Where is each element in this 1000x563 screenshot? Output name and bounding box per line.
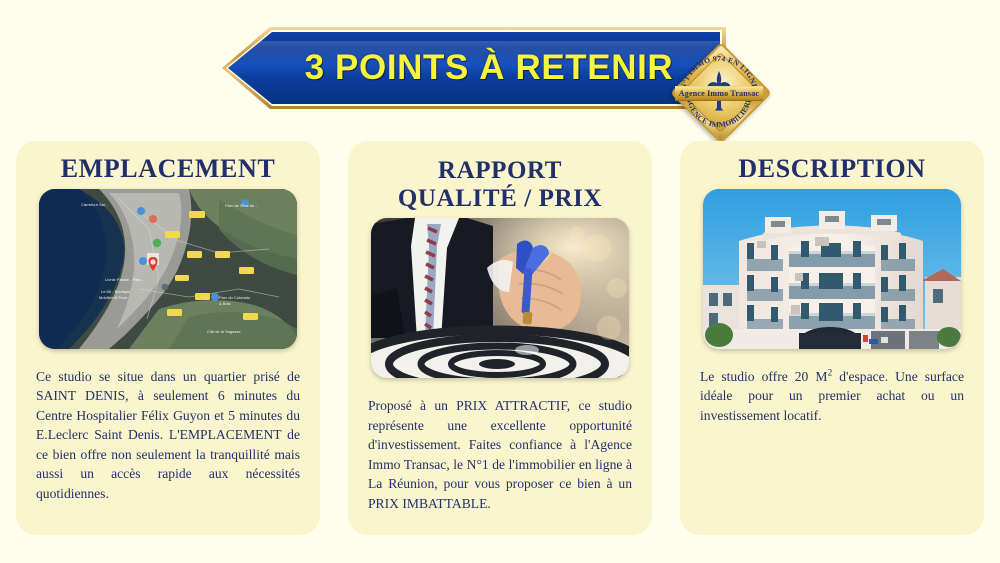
card-title-description: DESCRIPTION xyxy=(696,155,968,183)
cards-row: EMPLACEMENT xyxy=(0,141,1000,537)
agency-logo-badge: N°1 IMMO 974 EN LIGNE AGENCE IMMOBILIERE… xyxy=(671,43,767,139)
logo-center-ribbon: Agence Immo Transac xyxy=(675,86,763,101)
svg-text:Parc de l'État de…: Parc de l'État de… xyxy=(225,203,258,208)
building-image-description xyxy=(703,189,961,349)
card-title-emplacement: EMPLACEMENT xyxy=(32,155,304,183)
card-title-rapport: RAPPORT QUALITÉ / PRIX xyxy=(364,157,636,212)
banner-title: 3 POINTS À RETENIR xyxy=(228,32,720,104)
logo-bottom-arc-label: AGENCE IMMOBILIERE xyxy=(685,97,753,130)
map-image-emplacement: Carrefour Sai… Lionie Palace - Fleu… Le … xyxy=(39,189,297,349)
card-title-rapport-line1: RAPPORT xyxy=(438,157,562,184)
card-title-rapport-line2: QUALITÉ / PRIX xyxy=(364,185,636,213)
logo-top-arc-label: N°1 IMMO 974 EN LIGNE xyxy=(678,54,759,90)
card-description: DESCRIPTION xyxy=(680,141,984,535)
card-emplacement: EMPLACEMENT xyxy=(16,141,320,535)
svg-text:Mobilier et Tech…: Mobilier et Tech… xyxy=(99,295,131,300)
dart-image-rapport xyxy=(371,218,629,378)
svg-text:Carrefour Sai…: Carrefour Sai… xyxy=(81,202,109,207)
svg-text:Parc du Colorado: Parc du Colorado xyxy=(219,295,251,300)
logo-center-label: Agence Immo Transac xyxy=(679,89,759,98)
svg-text:& Bois: & Bois xyxy=(219,301,231,306)
svg-text:Lionie Palace - Fleu…: Lionie Palace - Fleu… xyxy=(105,277,144,282)
card-body-emplacement: Ce studio se situe dans un quartier pris… xyxy=(36,367,300,504)
card-rapport-qualite-prix: RAPPORT QUALITÉ / PRIX xyxy=(348,141,652,535)
card-body-description: Le studio offre 20 M2 d'espace. Une surf… xyxy=(700,367,964,426)
svg-text:Le 66 - Boutique: Le 66 - Boutique xyxy=(101,289,131,294)
header-banner: 3 POINTS À RETENIR N°1 IMMO 974 EN LIGNE… xyxy=(0,22,1000,127)
card-body-rapport: Proposé à un PRIX ATTRACTIF, ce studio r… xyxy=(368,396,632,513)
svg-text:Cité de la Sagesse: Cité de la Sagesse xyxy=(207,329,241,334)
